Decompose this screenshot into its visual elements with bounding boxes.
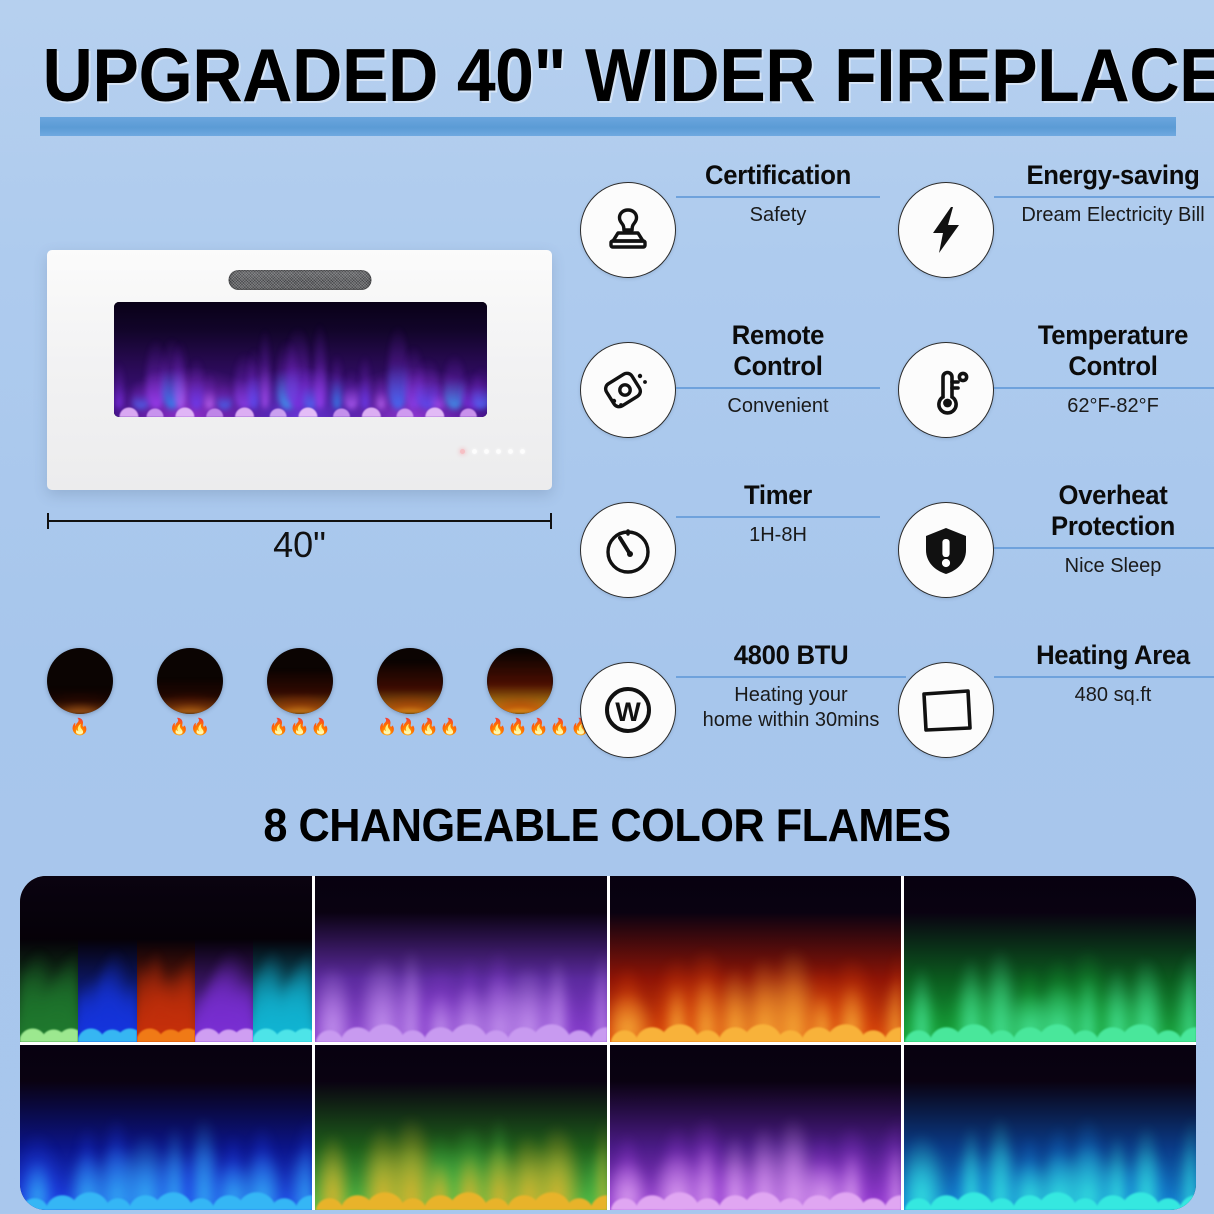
feature-text: 4800 BTUHeating yourhome within 30mins (676, 640, 906, 733)
dimension-rule (47, 520, 552, 522)
flame-tile-green-amber-flame (315, 1045, 607, 1211)
infographic-root: UPGRADED 40" WIDER FIREPLACE 40" 🔥🔥🔥🔥🔥🔥🔥… (0, 0, 1214, 1214)
flame-level-2: 🔥🔥 (157, 648, 223, 736)
crystal-media (610, 1164, 902, 1210)
flame-level-thumb (487, 648, 553, 714)
feature-title: OverheatProtection (1000, 480, 1214, 542)
remote-control-icon (580, 342, 676, 438)
feature-text: Heating Area480 sq.ft (994, 640, 1214, 708)
flame-tile-green-flame (904, 876, 1196, 1042)
feature-title: 4800 BTU (682, 640, 901, 671)
feature-subtitle: Dream Electricity Bill (994, 203, 1214, 228)
color-band (137, 876, 195, 1042)
watt-icon: W (580, 662, 676, 758)
feature-subtitle: Heating yourhome within 30mins (676, 683, 906, 733)
stamp-icon (580, 182, 676, 278)
feature-title: Timer (681, 480, 875, 511)
flame-level-3: 🔥🔥🔥 (267, 648, 333, 736)
crystal-media (20, 1164, 312, 1210)
color-band (78, 876, 136, 1042)
title-underline-bar (40, 117, 1176, 136)
feature-remote-control: RemoteControlConvenient (580, 320, 880, 470)
lightning-bolt-icon (898, 182, 994, 278)
crystal-media (315, 1164, 607, 1210)
feature-subtitle: 480 sq.ft (994, 683, 1214, 708)
feature-text: RemoteControlConvenient (676, 320, 880, 419)
flame-level-marks: 🔥🔥🔥 (267, 720, 333, 736)
feature-lightning-bolt: Energy-savingDream Electricity Bill (898, 160, 1198, 310)
feature-title: Heating Area (1000, 640, 1214, 671)
feature-title: RemoteControl (681, 320, 875, 382)
feature-subtitle: Convenient (676, 394, 880, 419)
feature-text: TemperatureControl62°F-82°F (994, 320, 1214, 419)
svg-text:W: W (615, 697, 641, 727)
feature-subtitle: Nice Sleep (994, 554, 1214, 579)
feature-title: TemperatureControl (1000, 320, 1214, 382)
feature-subtitle: 1H-8H (676, 523, 880, 548)
flame-tile-multi-color-bands (20, 876, 312, 1042)
feature-grid: CertificationSafetyEnergy-savingDream El… (580, 160, 1214, 780)
flame-level-marks: 🔥🔥🔥🔥🔥 (487, 720, 553, 736)
flame-display-window (114, 302, 487, 417)
color-flames-heading: 8 CHANGEABLE COLOR FLAMES (36, 800, 1177, 850)
feature-shield-alert: OverheatProtectionNice Sleep (898, 480, 1198, 630)
feature-timer: Timer1H-8H (580, 480, 880, 630)
heat-vent-grille (228, 270, 371, 290)
flame-level-marks: 🔥🔥🔥🔥 (377, 720, 443, 736)
crystal-media (610, 996, 902, 1042)
flame-level-thumb (157, 648, 223, 714)
feature-text: Timer1H-8H (676, 480, 880, 548)
feature-text: Energy-savingDream Electricity Bill (994, 160, 1214, 228)
flame-level-thumb (47, 648, 113, 714)
crystal-media (315, 996, 607, 1042)
color-band (195, 876, 253, 1042)
flame-tile-red-orange-flame (610, 876, 902, 1042)
flame-level-thumb (267, 648, 333, 714)
feature-subtitle: Safety (676, 203, 880, 228)
color-band (253, 876, 311, 1042)
feature-text: CertificationSafety (676, 160, 880, 228)
flame-level-marks: 🔥🔥 (157, 720, 223, 736)
flame-level-thumb (377, 648, 443, 714)
color-flames-gallery (20, 876, 1196, 1210)
feature-divider (994, 196, 1214, 198)
crystal-media (904, 1164, 1196, 1210)
dimension-label: 40" (47, 524, 552, 566)
feature-divider (994, 676, 1214, 678)
flame-tile-magenta-purple-flame (610, 1045, 902, 1211)
color-band (20, 876, 78, 1042)
feature-subtitle: 62°F-82°F (994, 394, 1214, 419)
page-title-block: UPGRADED 40" WIDER FIREPLACE (0, 16, 1214, 136)
feature-divider (676, 516, 880, 518)
floor-area-icon (898, 662, 994, 758)
flame-level-4: 🔥🔥🔥🔥 (377, 648, 443, 736)
led-indicator-row (460, 449, 525, 454)
feature-thermometer: TemperatureControl62°F-82°F (898, 320, 1198, 470)
feature-floor-area: Heating Area480 sq.ft (898, 640, 1198, 790)
feature-divider (676, 676, 906, 678)
flame-tile-purple-violet-flame (315, 876, 607, 1042)
feature-divider (676, 387, 880, 389)
feature-stamp: CertificationSafety (580, 160, 880, 310)
feature-divider (676, 196, 880, 198)
feature-divider (994, 387, 1214, 389)
feature-title: Energy-saving (1000, 160, 1214, 191)
crystal-media (904, 996, 1196, 1042)
timer-icon (580, 502, 676, 598)
crystal-media (114, 391, 487, 417)
flame-level-5: 🔥🔥🔥🔥🔥 (487, 648, 553, 736)
flame-tile-cyan-teal-flame (904, 1045, 1196, 1211)
feature-watt: W4800 BTUHeating yourhome within 30mins (580, 640, 880, 790)
flame-level-marks: 🔥 (47, 720, 113, 736)
flame-intensity-levels: 🔥🔥🔥🔥🔥🔥🔥🔥🔥🔥🔥🔥🔥🔥🔥 (47, 648, 567, 758)
shield-alert-icon (898, 502, 994, 598)
feature-title: Certification (681, 160, 875, 191)
thermometer-icon (898, 342, 994, 438)
flame-level-1: 🔥 (47, 648, 113, 736)
flame-tile-deep-blue-flame (20, 1045, 312, 1211)
feature-text: OverheatProtectionNice Sleep (994, 480, 1214, 579)
fireplace-product-image (47, 250, 552, 490)
page-title: UPGRADED 40" WIDER FIREPLACE (42, 36, 1171, 114)
feature-divider (994, 547, 1214, 549)
